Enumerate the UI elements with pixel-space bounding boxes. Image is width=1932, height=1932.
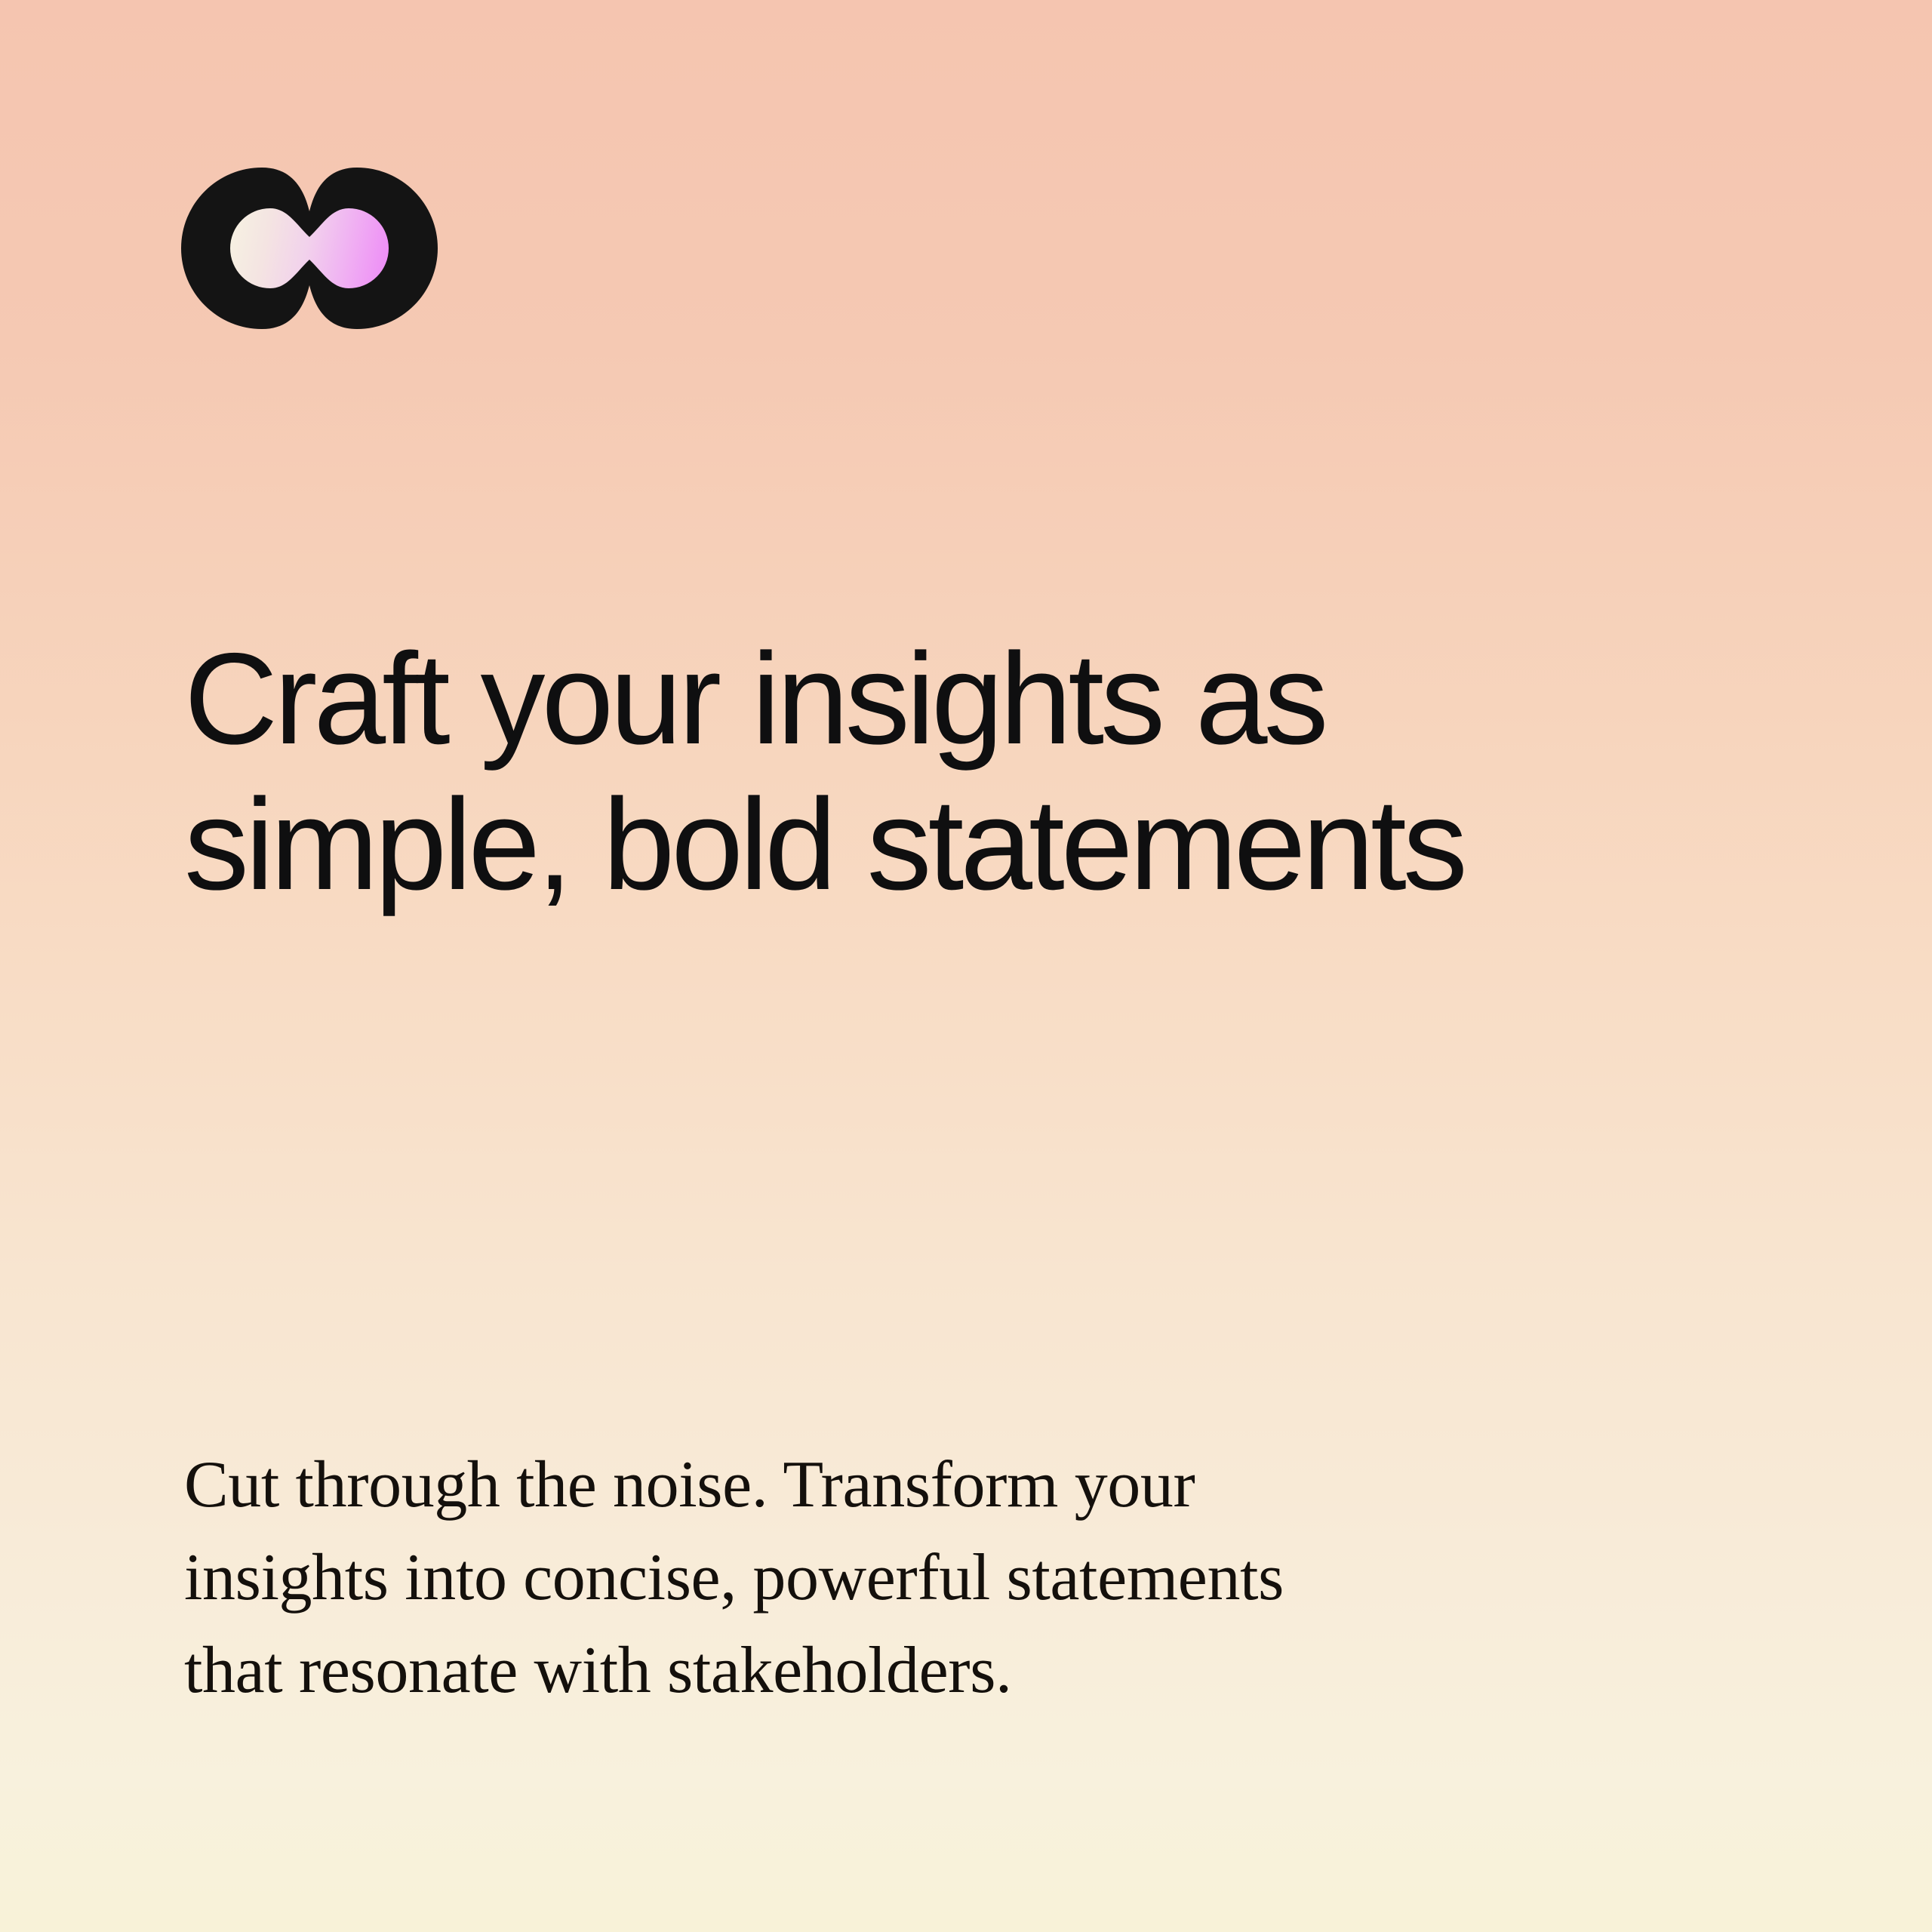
- headline-line-1: Craft your insights as: [184, 626, 1694, 772]
- body-line-2: insights into concise, powerful statemen…: [184, 1531, 1595, 1624]
- body-paragraph: Cut through the noise. Transform your in…: [184, 1438, 1595, 1718]
- body-line-1: Cut through the noise. Transform your: [184, 1438, 1595, 1531]
- body-line-3: that resonate with stakeholders.: [184, 1624, 1595, 1717]
- headline: Craft your insights as simple, bold stat…: [184, 626, 1694, 917]
- slide-card: Craft your insights as simple, bold stat…: [0, 0, 1932, 1932]
- headline-line-2: simple, bold statements: [184, 772, 1694, 918]
- infinity-loop-icon: [180, 166, 439, 331]
- brand-logo[interactable]: [180, 166, 439, 331]
